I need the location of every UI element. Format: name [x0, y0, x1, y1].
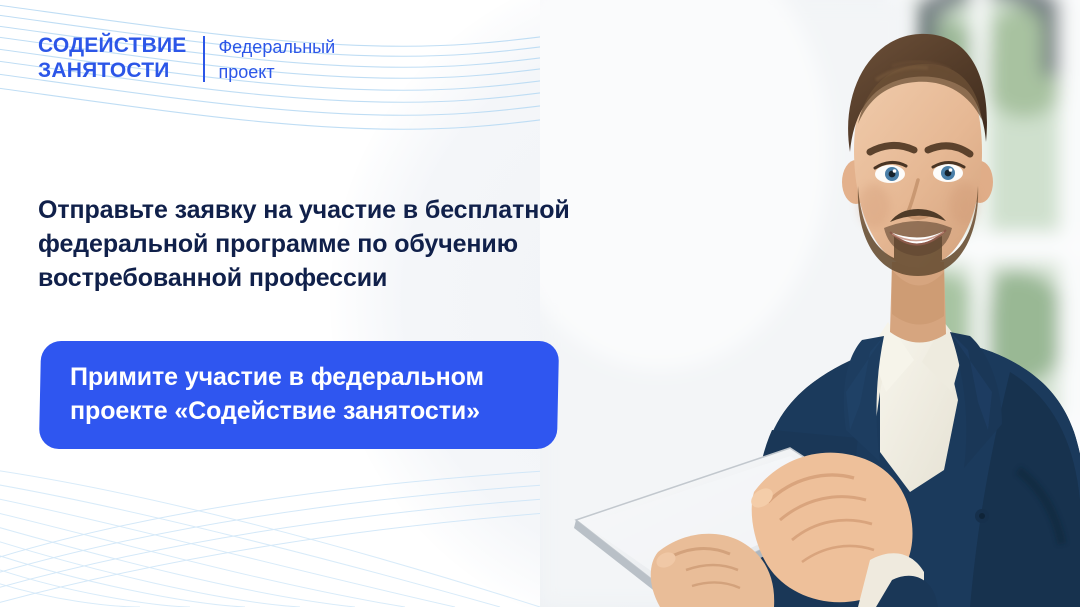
logo-divider	[203, 36, 205, 82]
headline-text: Отправьте заявку на участие в бесплатной…	[38, 193, 618, 295]
promo-banner: СОДЕЙСТВИЕ ЗАНЯТОСТИ Федеральный проект …	[0, 0, 1080, 607]
hero-photo	[540, 0, 1080, 607]
brand-logo[interactable]: СОДЕЙСТВИЕ ЗАНЯТОСТИ Федеральный проект	[38, 34, 335, 85]
participate-cta-button[interactable]: Примите участие в федеральном проекте «С…	[39, 341, 559, 449]
brand-logo-name: СОДЕЙСТВИЕ ЗАНЯТОСТИ	[38, 34, 187, 84]
cta-label: Примите участие в федеральном проекте «С…	[70, 360, 532, 428]
brand-logo-subtitle: Федеральный проект	[219, 34, 336, 85]
